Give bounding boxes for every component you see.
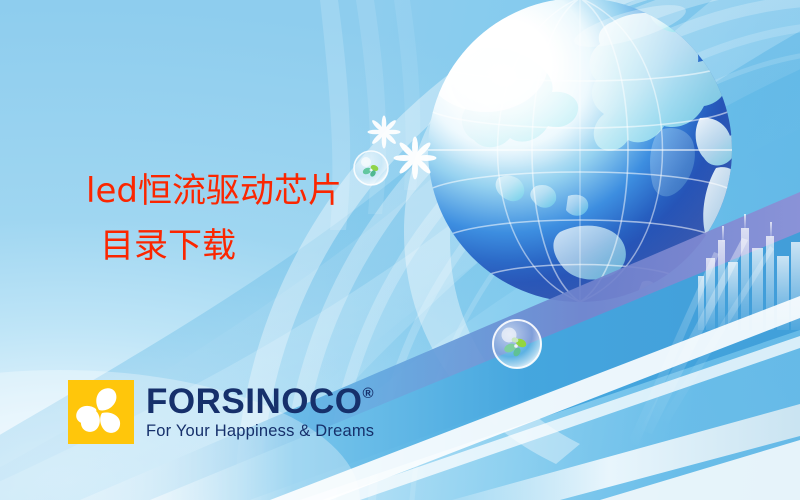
- brand-logo[interactable]: FORSINOCO ® For Your Happiness & Dreams: [68, 380, 374, 444]
- sparkle-star-small: [368, 116, 401, 149]
- bubble-pinwheel-large: [493, 320, 541, 368]
- sparkle-star-large: [394, 137, 437, 180]
- logo-wordmark-text: FORSINOCO: [146, 384, 362, 420]
- headline-line-2: 目录下载: [86, 219, 342, 274]
- pinwheel-flower-icon: [68, 380, 134, 444]
- logo-text-block: FORSINOCO ® For Your Happiness & Dreams: [146, 384, 374, 441]
- promo-banner: led恒流驱动芯片 目录下载 FORSINOCO ® For Your Happ…: [0, 0, 800, 500]
- bubble-pinwheel-small: [354, 151, 388, 185]
- headline-line-1: led恒流驱动芯片: [86, 171, 342, 211]
- logo-wordmark: FORSINOCO ®: [146, 384, 374, 420]
- page-headline: led恒流驱动芯片 目录下载: [86, 164, 342, 274]
- registered-trademark-icon: ®: [362, 384, 374, 402]
- logo-tagline: For Your Happiness & Dreams: [146, 421, 374, 441]
